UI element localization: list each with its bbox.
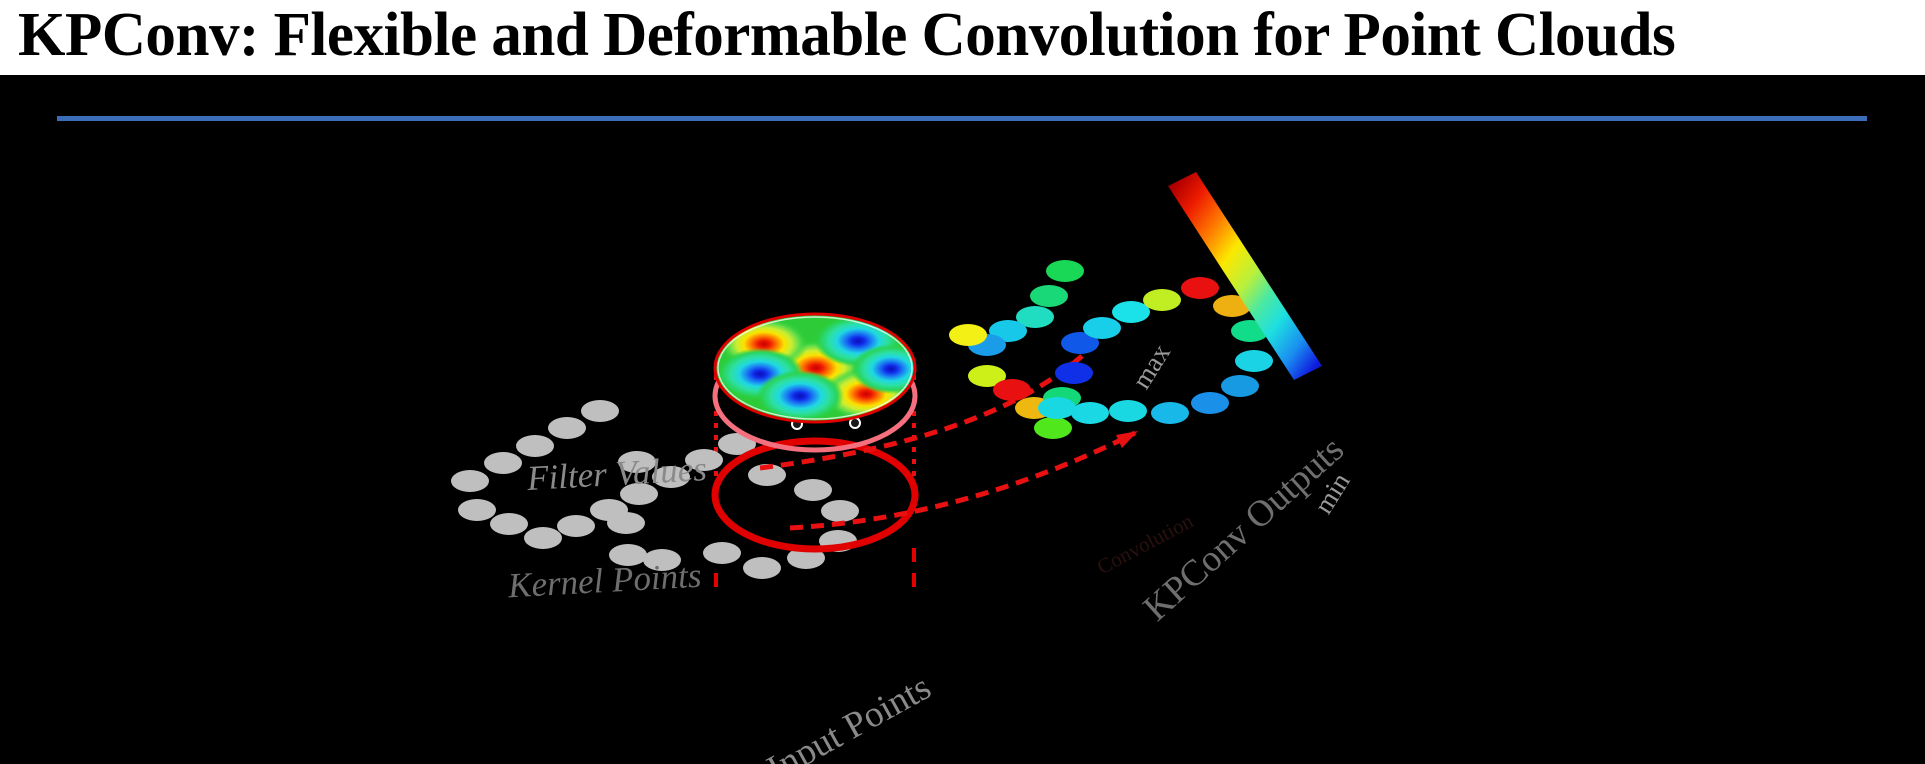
title-underline-rule — [57, 116, 1867, 121]
output-point-cloud — [949, 260, 1273, 439]
kpconv-figure: Filter Values Kernel Points Input Points… — [0, 128, 1925, 764]
slide-canvas: KPConv: Flexible and Deformable Convolut… — [0, 0, 1925, 764]
title-band: KPConv: Flexible and Deformable Convolut… — [0, 0, 1925, 75]
colorbar — [1168, 172, 1322, 380]
filter-values-disc — [715, 314, 931, 422]
page-title: KPConv: Flexible and Deformable Convolut… — [18, 0, 1890, 74]
figure-graphics — [0, 128, 1925, 764]
